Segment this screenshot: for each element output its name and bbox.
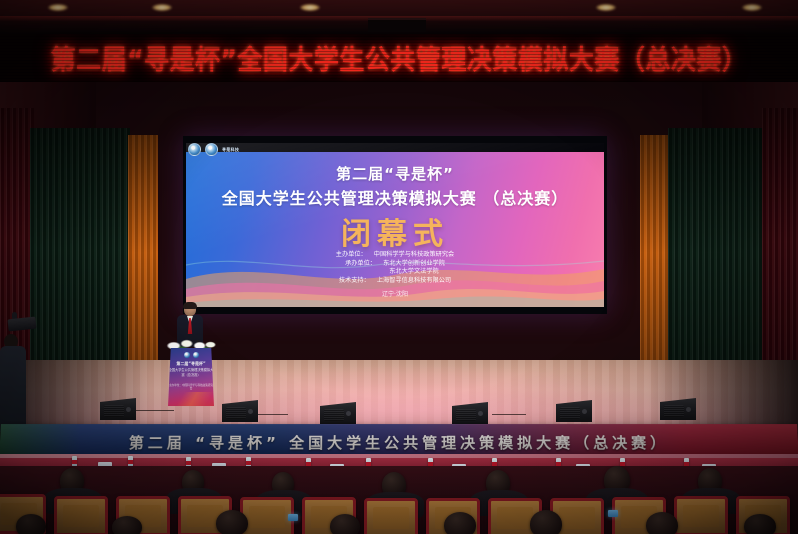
podium-title: 第二届“寻是杯” xyxy=(168,361,214,367)
camera-operator-body xyxy=(0,346,26,432)
audience-head xyxy=(646,512,678,534)
podium-footer: 主办单位：中国科学学与科技政策研究会 xyxy=(168,384,214,391)
screen-logo-caption: 寻是科技 xyxy=(222,147,239,153)
screen-top-bar xyxy=(186,143,604,152)
audience-head xyxy=(330,514,360,534)
university-emblem-icon xyxy=(193,352,199,358)
curtain-right-orange xyxy=(640,135,670,397)
credit-row: 主办单位：中国科学学与科技政策研究会 xyxy=(186,251,604,260)
credit-label: 技术支持： xyxy=(339,277,377,286)
ceiling-light xyxy=(596,4,616,11)
credit-label: 承办单位： xyxy=(345,260,383,269)
stage-front-banner-text: 第二届 “寻是杯” 全国大学生公共管理决策模拟大赛（总决赛） xyxy=(129,432,670,453)
audience-head xyxy=(16,514,46,534)
organization-emblem-icon xyxy=(188,143,201,156)
audience-chair xyxy=(240,497,294,534)
podium-subtitle: 全国大学生公共管理决策模拟大赛（总决赛） xyxy=(168,368,214,377)
audience-head xyxy=(112,516,142,534)
judges-table-edge xyxy=(0,454,798,458)
ceiling-light xyxy=(152,4,172,11)
credit-row: 承办单位：东北大学创新创业学院 xyxy=(186,260,604,269)
speaker-cable xyxy=(492,414,526,415)
speaker-cable xyxy=(136,410,174,411)
ceiling-light xyxy=(300,4,320,11)
camera-operator xyxy=(0,312,32,432)
screen-logo-group: 寻是科技 xyxy=(188,143,239,156)
ceiling-vent xyxy=(368,18,426,32)
audience-phone-screen xyxy=(608,510,618,517)
overhead-led-banner: 第二届“寻是杯”全国大学生公共管理决策模拟大赛（总决赛） xyxy=(0,34,798,82)
screen-headline: 闭幕式 xyxy=(186,209,604,253)
main-led-screen: 寻是科技 第二届“寻是杯” 全国大学生公共管理决策模拟大赛 （总决赛） 闭幕式 … xyxy=(186,143,604,307)
university-emblem-icon xyxy=(205,143,218,156)
credit-row: 技术支持：上海智寻信息科技有限公司 xyxy=(186,277,604,286)
speaker-hair xyxy=(183,302,197,309)
audience-chair xyxy=(674,496,728,534)
curtain-left-orange xyxy=(128,135,158,397)
auditorium-stage-photo: 第二届“寻是杯”全国大学生公共管理决策模拟大赛（总决赛） 寻是科技 第二届“寻是… xyxy=(0,0,798,534)
stage-shadow-right xyxy=(648,360,798,432)
screen-title-line2: 全国大学生公共管理决策模拟大赛 （总决赛） xyxy=(186,185,604,209)
speaking-podium: 第二届“寻是杯” 全国大学生公共管理决策模拟大赛（总决赛） 主办单位：中国科学学… xyxy=(168,348,214,406)
screen-credits-block: 主办单位：中国科学学与科技政策研究会 承办单位：东北大学创新创业学院 东北大学文… xyxy=(186,251,604,285)
audience-head xyxy=(530,510,562,534)
credit-label: 主办单位： xyxy=(336,251,374,260)
credit-value: 上海智寻信息科技有限公司 xyxy=(377,277,451,284)
organization-emblem-icon xyxy=(184,352,190,358)
ceiling-light xyxy=(48,4,68,11)
audience-head xyxy=(216,510,248,534)
credit-row: 东北大学文法学院 xyxy=(186,268,604,277)
screen-location-text: 辽宁·沈阳 xyxy=(186,289,604,298)
credit-value: 东北大学文法学院 xyxy=(389,268,439,275)
audience-head xyxy=(744,514,776,534)
audience-chair xyxy=(364,498,418,534)
audience-phone-screen xyxy=(288,514,298,521)
audience-head xyxy=(444,512,476,534)
credit-value: 东北大学创新创业学院 xyxy=(383,260,445,267)
ceiling xyxy=(0,0,798,34)
podium-logo-group xyxy=(168,352,214,358)
ceiling-light xyxy=(742,4,762,11)
audience-chair xyxy=(54,496,108,534)
audience-area xyxy=(0,466,798,534)
speaker-cable xyxy=(258,414,288,415)
credit-value: 中国科学学与科技政策研究会 xyxy=(374,251,454,258)
overhead-led-banner-text: 第二届“寻是杯”全国大学生公共管理决策模拟大赛（总决赛） xyxy=(51,39,748,78)
screen-title-line1: 第二届“寻是杯” xyxy=(186,163,604,184)
podium-wave-graphic xyxy=(168,392,214,406)
